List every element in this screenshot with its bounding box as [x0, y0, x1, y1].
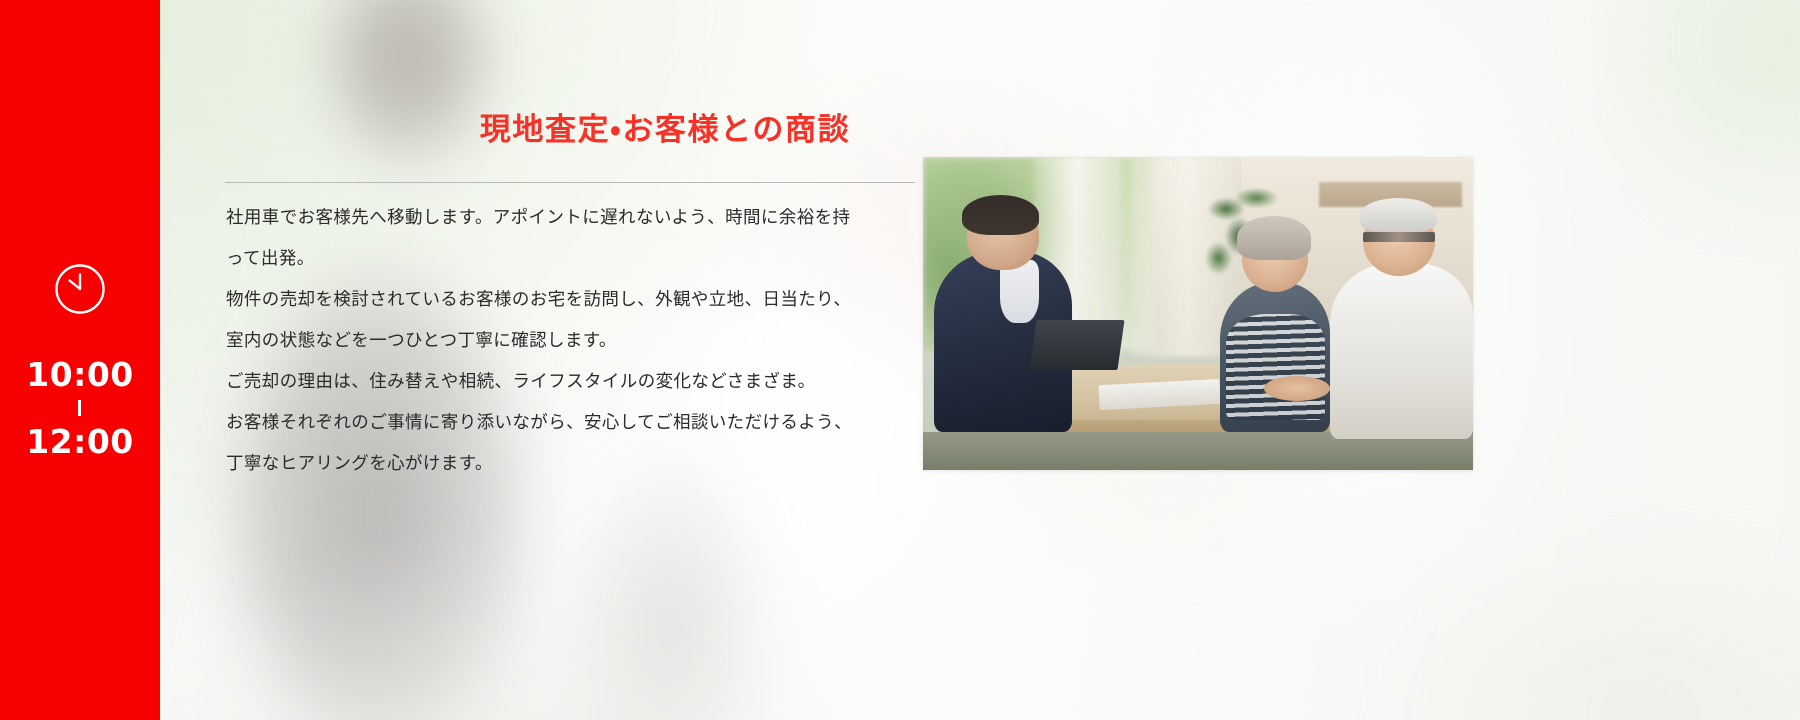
time-separator: -: [78, 400, 81, 416]
schedule-section: 10:00 - 12:00 現地査定・お客様との商談 社用車でお客様先へ移動しま…: [0, 0, 1800, 720]
body-paragraph-4: お客様それぞれのご事情に寄り添いながら、安心してご相談いただけるよう、丁寧なヒア…: [226, 403, 866, 485]
clock-icon: [53, 262, 107, 316]
title-divider: [225, 182, 915, 183]
section-body: 社用車でお客様先へ移動します。アポイントに遅れないよう、時間に余裕を持って出発。…: [226, 198, 866, 485]
section-title: 現地査定・お客様との商談: [320, 104, 1010, 149]
photo-overlay: [923, 157, 1473, 470]
time-range: 10:00 - 12:00: [26, 358, 134, 458]
meeting-photo: [923, 157, 1473, 470]
content-column: 現地査定・お客様との商談 社用車でお客様先へ移動します。アポイントに遅れないよう…: [160, 0, 1800, 720]
body-paragraph-1: 社用車でお客様先へ移動します。アポイントに遅れないよう、時間に余裕を持って出発。: [226, 198, 866, 280]
time-end: 12:00: [26, 425, 134, 458]
body-paragraph-3: ご売却の理由は、住み替えや相続、ライフスタイルの変化などさまざま。: [226, 362, 866, 403]
time-rail: 10:00 - 12:00: [0, 0, 160, 720]
body-paragraph-2: 物件の売却を検討されているお客様のお宅を訪問し、外観や立地、日当たり、室内の状態…: [226, 280, 866, 362]
time-start: 10:00: [26, 358, 134, 391]
